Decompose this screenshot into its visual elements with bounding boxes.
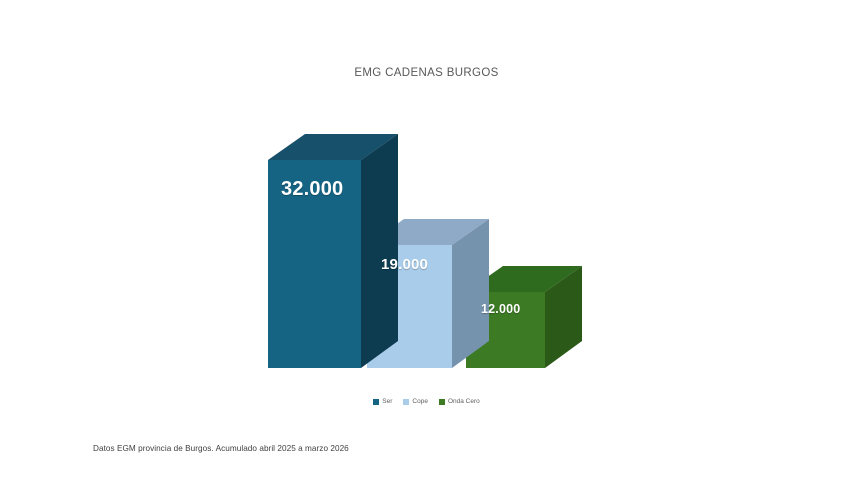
legend-label-ser: Ser (382, 399, 392, 406)
legend-label-cope: Cope (412, 399, 428, 406)
bar-value-label-onda-cero: 12.000 (481, 302, 520, 316)
legend-swatch-onda-cero (439, 399, 445, 405)
bar-value-label-ser: 32.000 (281, 178, 343, 201)
footer-source-note: Datos EGM provincia de Burgos. Acumulado… (93, 444, 349, 453)
chart-legend: Ser Cope Onda Cero (0, 399, 853, 406)
bar-ser-side (361, 134, 398, 368)
legend-item-onda-cero[interactable]: Onda Cero (439, 399, 480, 406)
legend-item-ser[interactable]: Ser (373, 399, 392, 406)
bar-ser[interactable] (268, 134, 398, 368)
legend-item-cope[interactable]: Cope (403, 399, 428, 406)
chart-plot-area: 32.000 19.000 12.000 (0, 0, 853, 480)
bar-value-label-cope: 19.000 (381, 256, 428, 273)
slide-canvas: EMG CADENAS BURGOS 32.000 19 (0, 0, 853, 480)
legend-swatch-cope (403, 399, 409, 405)
legend-label-onda-cero: Onda Cero (448, 399, 480, 406)
bar-chart-3d-graphic (0, 0, 853, 480)
legend-swatch-ser (373, 399, 379, 405)
